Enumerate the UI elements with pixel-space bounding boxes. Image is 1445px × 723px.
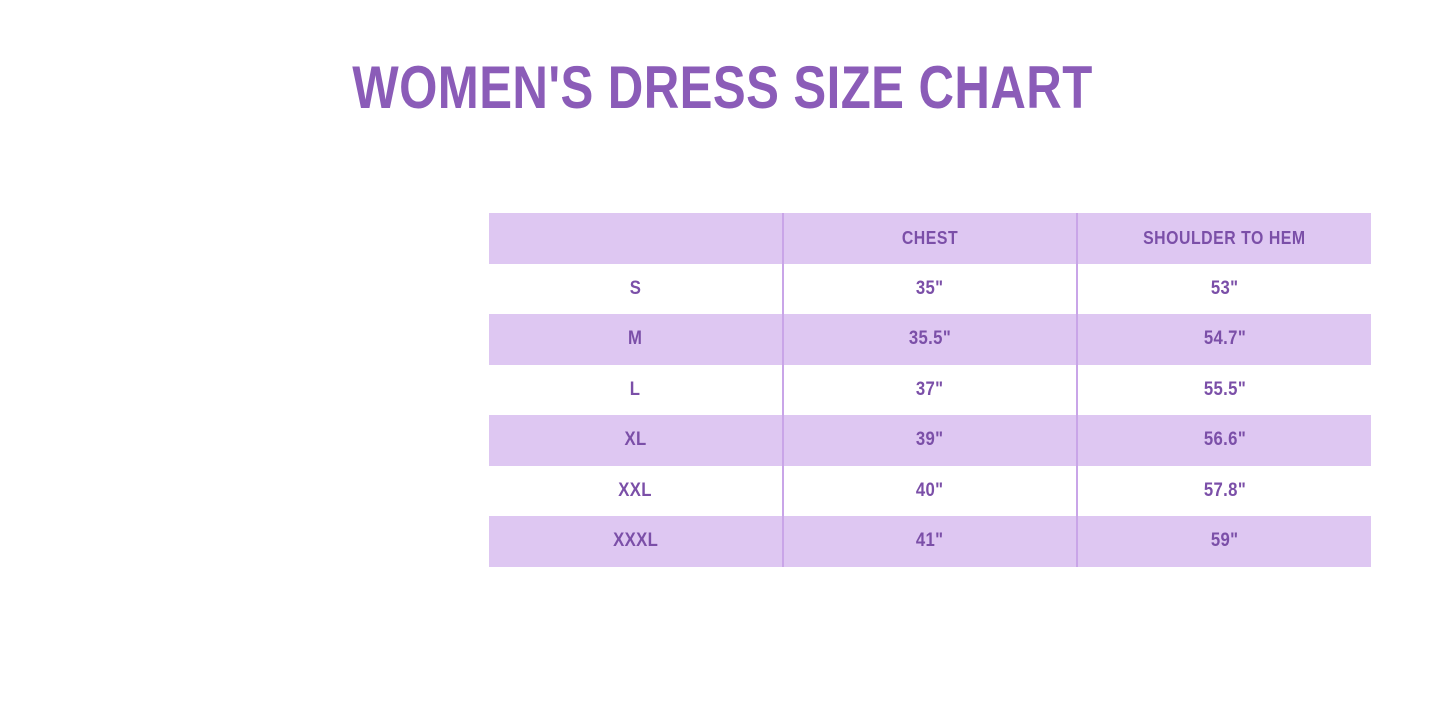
- cell-shoulder-to-hem: 57.8": [1077, 466, 1371, 517]
- cell-size: XL: [489, 415, 783, 466]
- cell-chest: 41": [783, 516, 1077, 567]
- cell-chest: 37": [783, 365, 1077, 416]
- column-header-chest: CHEST: [783, 213, 1077, 264]
- cell-chest: 39": [783, 415, 1077, 466]
- table-row: XXL 40" 57.8": [489, 466, 1371, 517]
- cell-size: S: [489, 264, 783, 315]
- cell-shoulder-to-hem: 59": [1077, 516, 1371, 567]
- table-body: S 35" 53" M 35.5": [489, 264, 1371, 567]
- cell-shoulder-to-hem: 53": [1077, 264, 1371, 315]
- table-row: S 35" 53": [489, 264, 1371, 315]
- cell-size: XXL: [489, 466, 783, 517]
- cell-chest: 35": [783, 264, 1077, 315]
- size-chart-page: WOMEN'S DRESS SIZE CHART CHEST SHOULDER …: [0, 0, 1445, 723]
- cell-size: L: [489, 365, 783, 416]
- table-row: L 37" 55.5": [489, 365, 1371, 416]
- cell-shoulder-to-hem: 55.5": [1077, 365, 1371, 416]
- column-header-shoulder-to-hem: SHOULDER TO HEM: [1077, 213, 1371, 264]
- column-header-size: [489, 213, 783, 264]
- table-header: CHEST SHOULDER TO HEM: [489, 213, 1371, 264]
- cell-size: M: [489, 314, 783, 365]
- cell-chest: 35.5": [783, 314, 1077, 365]
- table-row: XL 39" 56.6": [489, 415, 1371, 466]
- cell-shoulder-to-hem: 56.6": [1077, 415, 1371, 466]
- cell-size: XXXL: [489, 516, 783, 567]
- table-header-row: CHEST SHOULDER TO HEM: [489, 213, 1371, 264]
- size-chart-table: CHEST SHOULDER TO HEM S 35" 53": [489, 213, 1371, 567]
- table-row: M 35.5" 54.7": [489, 314, 1371, 365]
- table-row: XXXL 41" 59": [489, 516, 1371, 567]
- page-title: WOMEN'S DRESS SIZE CHART: [130, 52, 1315, 124]
- cell-shoulder-to-hem: 54.7": [1077, 314, 1371, 365]
- size-table-container: CHEST SHOULDER TO HEM S 35" 53": [489, 213, 1371, 567]
- cell-chest: 40": [783, 466, 1077, 517]
